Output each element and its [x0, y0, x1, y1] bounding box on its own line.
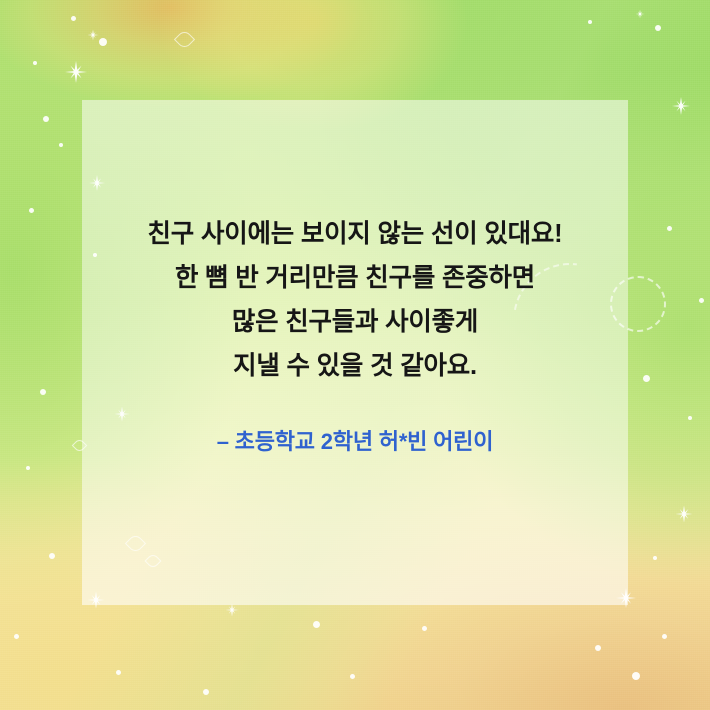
dot-c: [43, 116, 49, 122]
sparkle-top-right-small: [636, 10, 645, 19]
quote-attribution: – 초등학교 2학년 허*빈 어린이: [82, 424, 628, 456]
sparkle-upper-left: [88, 30, 99, 41]
quote-card-canvas: 친구 사이에는 보이지 않는 선이 있대요! 한 뼘 반 거리만큼 친구를 존중…: [0, 0, 710, 710]
dot-i: [26, 466, 30, 470]
dot-e: [59, 143, 63, 147]
quote-line-2: 한 뼘 반 거리만큼 친구를 존중하면: [82, 256, 628, 300]
quote-line-3: 많은 친구들과 사이좋게: [82, 300, 628, 344]
dot-u: [688, 416, 692, 420]
dot-o: [350, 674, 355, 679]
dot-m: [313, 621, 320, 628]
dot-h: [40, 389, 46, 395]
quote-line-4: 지낼 수 있을 것 같아요.: [82, 344, 628, 388]
dot-s: [643, 375, 650, 382]
dot-n: [422, 626, 427, 631]
dot-a: [33, 61, 37, 65]
quote-line-1: 친구 사이에는 보이지 않는 선이 있대요!: [82, 212, 628, 256]
dot-d: [99, 38, 107, 46]
sparkle-right-upper: [672, 97, 690, 115]
dot-t: [699, 298, 704, 303]
dot-q: [662, 634, 667, 639]
dot-j: [49, 553, 55, 559]
dot-b: [71, 16, 76, 21]
quote-text-block: 친구 사이에는 보이지 않는 선이 있대요! 한 뼘 반 거리만큼 친구를 존중…: [82, 212, 628, 388]
dot-v: [667, 226, 672, 231]
sparkle-bottom-center: [226, 604, 239, 617]
dot-x: [588, 20, 592, 24]
diamond-top: [173, 28, 194, 49]
dot-w: [655, 25, 661, 31]
dot-l: [203, 689, 209, 695]
dot-k: [116, 670, 121, 675]
dot-r: [632, 672, 640, 680]
dot-y: [653, 556, 657, 560]
sparkle-right-lower: [676, 506, 693, 523]
dot-p: [595, 645, 601, 651]
dot-z: [14, 634, 19, 639]
sparkle-top-left: [65, 61, 87, 83]
dot-f: [29, 208, 34, 213]
